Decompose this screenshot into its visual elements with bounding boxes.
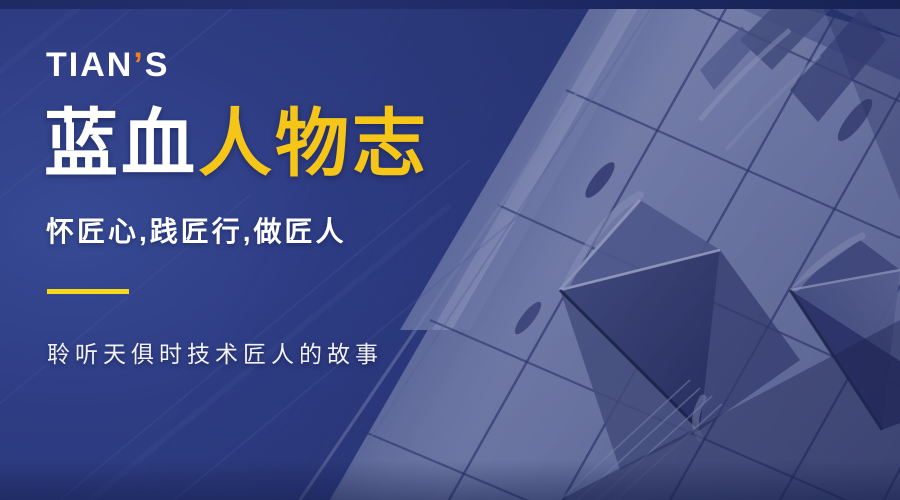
banner-content: TIAN’S 蓝血人物志 怀匠心,践匠行,做匠人 聆听天俱时技术匠人的故事 <box>0 0 520 500</box>
brand-logo: TIAN’S <box>46 48 169 82</box>
banner-title-white: 蓝血 <box>44 101 198 187</box>
promo-banner: TIAN’S 蓝血人物志 怀匠心,践匠行,做匠人 聆听天俱时技术匠人的故事 <box>0 0 900 500</box>
banner-subtitle: 怀匠心,践匠行,做匠人 <box>46 215 347 249</box>
banner-title-yellow: 人物志 <box>198 101 429 187</box>
brand-logo-text-before: TIAN <box>46 46 133 84</box>
yellow-divider <box>47 289 129 294</box>
banner-tagline: 聆听天俱时技术匠人的故事 <box>47 341 383 369</box>
brand-logo-apostrophe: ’ <box>133 46 144 84</box>
brand-logo-text-after: S <box>145 46 170 84</box>
banner-title: 蓝血人物志 <box>44 107 429 181</box>
